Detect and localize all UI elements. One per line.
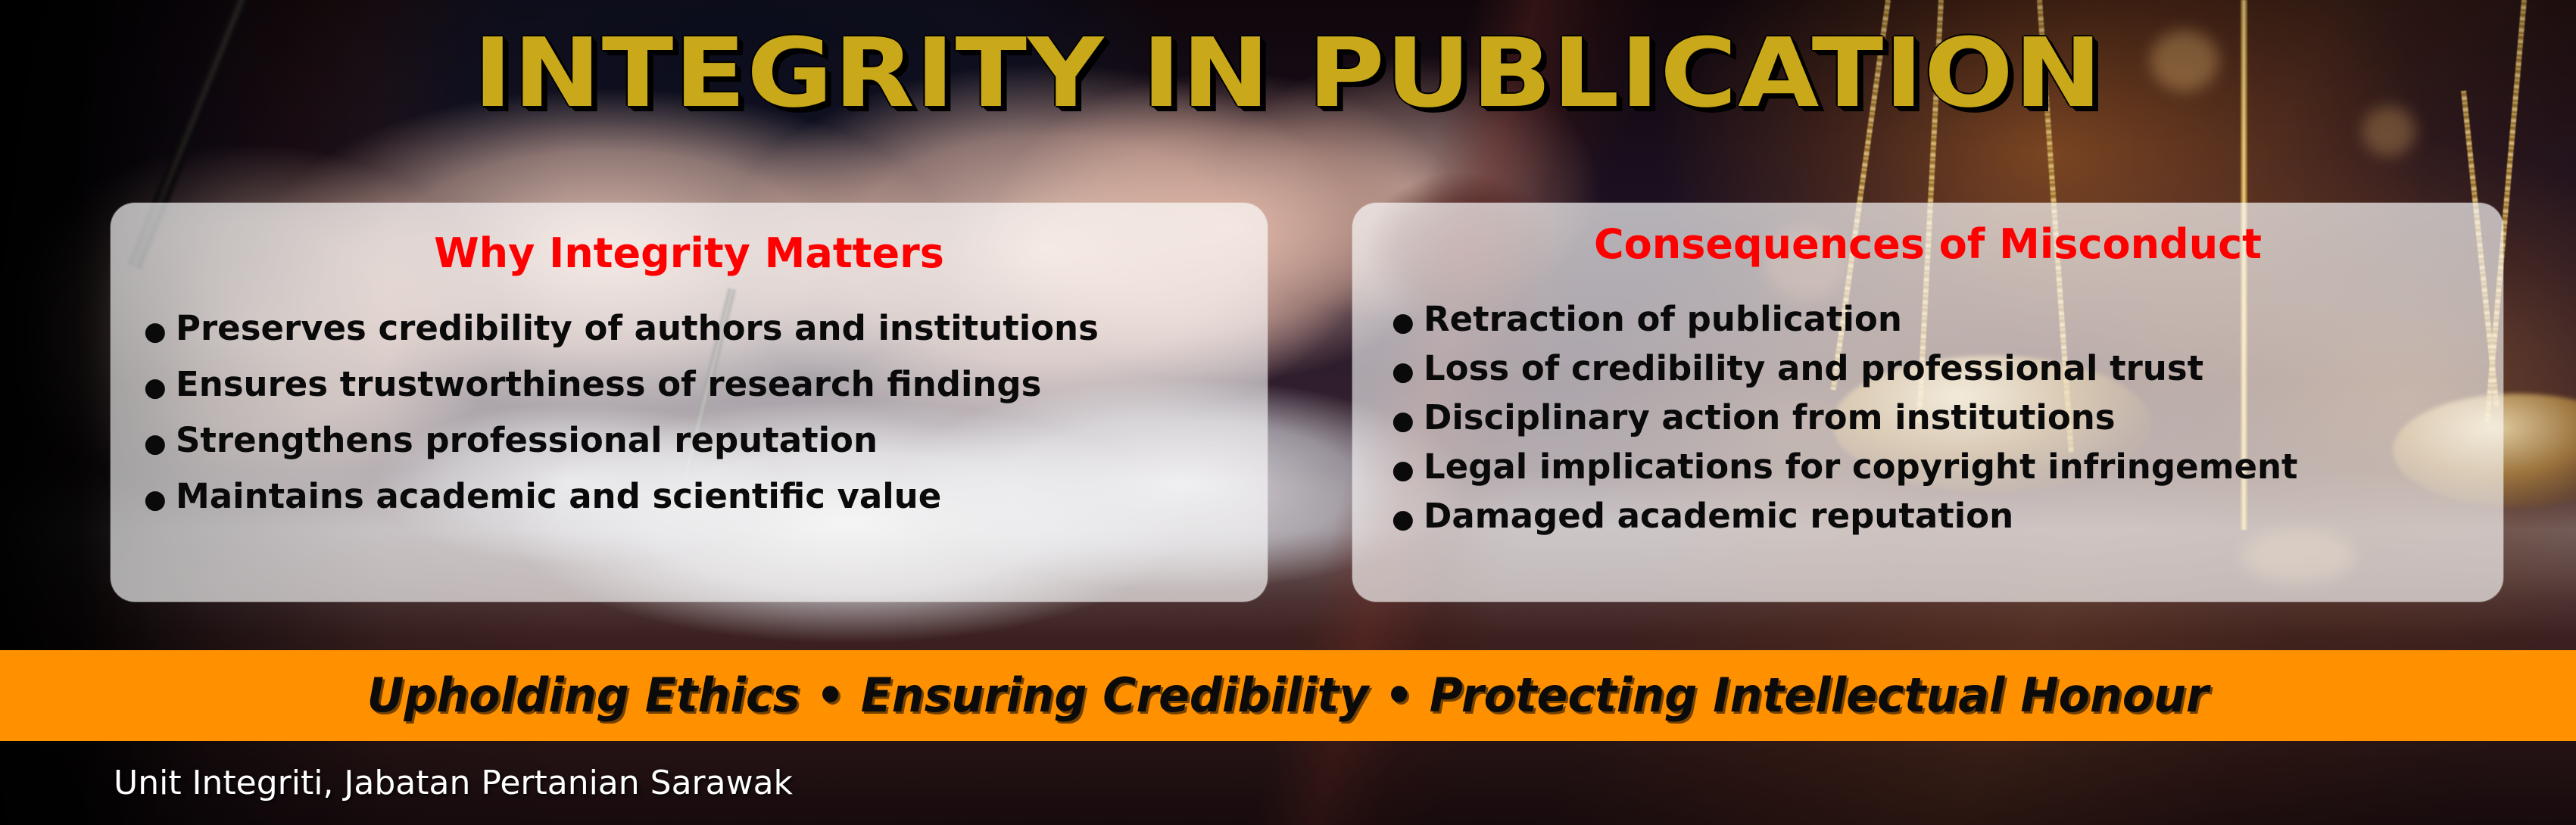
list-item: ● Retraction of publication: [1392, 299, 2503, 339]
bullet-dot-icon: ●: [144, 319, 164, 344]
list-item: ● Strengthens professional reputation: [144, 420, 1268, 460]
panel-right-bullet-list: ● Retraction of publication ● Loss of cr…: [1392, 299, 2503, 536]
list-item-label: Ensures trustworthiness of research find…: [176, 364, 1041, 404]
list-item-label: Damaged academic reputation: [1424, 496, 2013, 536]
bullet-dot-icon: ●: [144, 487, 164, 512]
bullet-dot-icon: ●: [1392, 457, 1411, 483]
list-item-label: Maintains academic and scientific value: [176, 476, 941, 516]
tagline-text: Upholding Ethics • Ensuring Credibility …: [367, 672, 2209, 719]
list-item: ● Maintains academic and scientific valu…: [144, 476, 1268, 516]
tagline-band: Upholding Ethics • Ensuring Credibility …: [0, 650, 2576, 741]
bullet-dot-icon: ●: [1392, 408, 1411, 434]
list-item-label: Preserves credibility of authors and ins…: [176, 308, 1099, 348]
list-item-label: Disciplinary action from institutions: [1424, 397, 2116, 437]
panel-right-heading: Consequences of Misconduct: [1352, 224, 2503, 265]
integrity-poster-banner: INTEGRITY IN PUBLICATION Why Integrity M…: [0, 0, 2576, 825]
panel-left-bullet-list: ● Preserves credibility of authors and i…: [144, 308, 1268, 516]
list-item-label: Legal implications for copyright infring…: [1424, 447, 2298, 487]
list-item-label: Retraction of publication: [1424, 299, 1902, 339]
list-item: ● Preserves credibility of authors and i…: [144, 308, 1268, 348]
panel-left-heading: Why Integrity Matters: [111, 233, 1268, 274]
bullet-dot-icon: ●: [144, 431, 164, 456]
bullet-dot-icon: ●: [144, 375, 164, 400]
list-item: ● Damaged academic reputation: [1392, 496, 2503, 536]
bullet-dot-icon: ●: [1392, 359, 1411, 384]
footer-credit: Unit Integriti, Jabatan Pertanian Sarawa…: [114, 767, 793, 800]
panel-consequences-of-misconduct: Consequences of Misconduct ● Retraction …: [1352, 203, 2503, 602]
page-title: INTEGRITY IN PUBLICATION: [0, 26, 2576, 121]
footer-bar: Unit Integriti, Jabatan Pertanian Sarawa…: [0, 741, 2576, 825]
bullet-dot-icon: ●: [1392, 310, 1411, 335]
list-item-label: Loss of credibility and professional tru…: [1424, 348, 2203, 388]
panel-why-integrity-matters: Why Integrity Matters ● Preserves credib…: [111, 203, 1268, 602]
bullet-dot-icon: ●: [1392, 506, 1411, 532]
list-item: ● Loss of credibility and professional t…: [1392, 348, 2503, 388]
list-item: ● Legal implications for copyright infri…: [1392, 447, 2503, 487]
list-item: ● Disciplinary action from institutions: [1392, 397, 2503, 437]
list-item-label: Strengthens professional reputation: [176, 420, 878, 460]
list-item: ● Ensures trustworthiness of research fi…: [144, 364, 1268, 404]
